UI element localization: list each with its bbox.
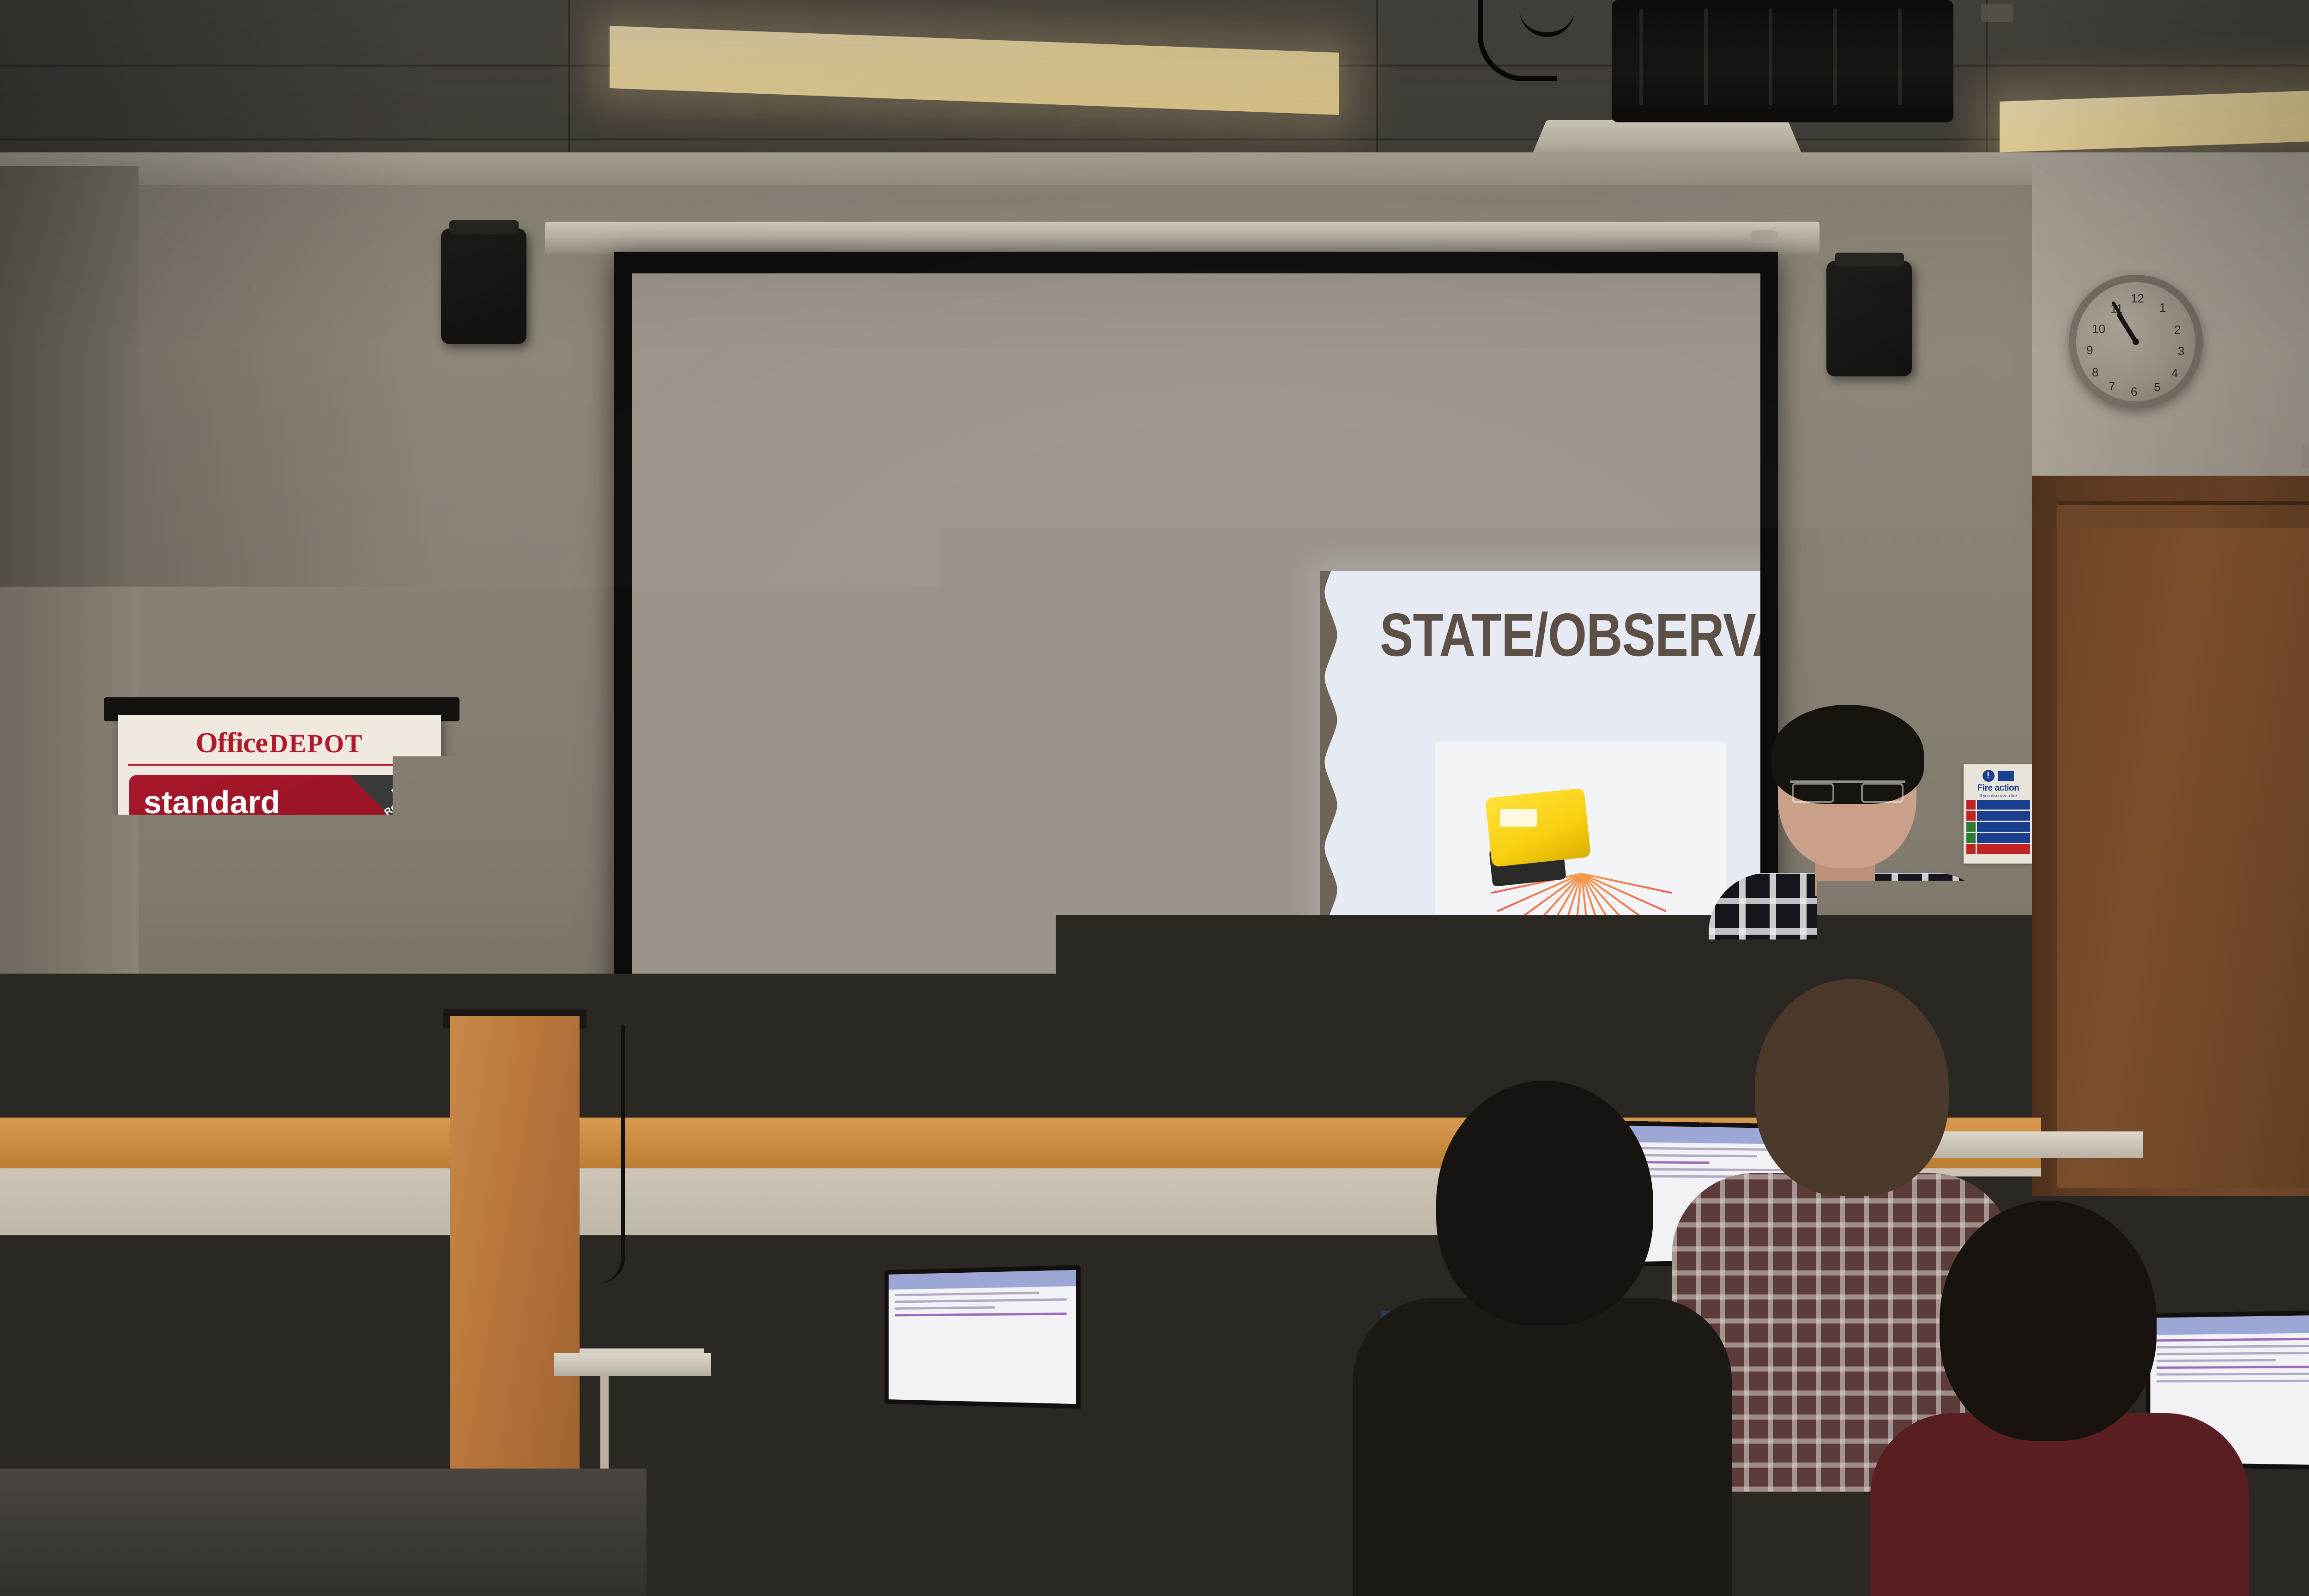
pad-red-panel: Bleed Resistant standard flipchart pad p…: [129, 775, 430, 1144]
spec-sheets: 40 SHEETS: [194, 1161, 260, 1193]
marker-cap: [298, 1206, 320, 1215]
flipchart-easel: Office DEPOT Bleed Resistant standard fl…: [99, 697, 464, 1593]
pad-term-desc: flipchart pad A1: [144, 888, 271, 903]
clock-number: 9: [2086, 343, 2093, 357]
clock-number: 1: [2159, 301, 2166, 315]
ceiling-projector: [1612, 0, 1953, 122]
office-depot-brand-primary: Office: [196, 727, 268, 759]
pad-dimensions-in: 31.9 in x 23 in: [144, 1109, 193, 1117]
spec-format: A1 FORMAT: [129, 1161, 194, 1193]
spec-reference: 2650828 REFERENCE: [326, 1161, 430, 1193]
clock-number: 8: [2092, 365, 2098, 380]
slide-wave-border-icon: [1320, 571, 1337, 1026]
audience-member-right: [1870, 1201, 2249, 1596]
pad-term-desc: bloc para tableros A1: [288, 888, 415, 903]
clock-number: 6: [2131, 385, 2137, 399]
lecture-room-photo: ← ↑ 12 1 2 3 4 5 6 7 8 9 10 11 Fire acti…: [0, 0, 2309, 1596]
pad-term: liscio: [288, 959, 415, 975]
pad-term-desc: flipchartblock A1: [144, 990, 271, 1005]
wall-speaker-left: [441, 229, 526, 344]
audience-member-front-left: [697, 1469, 1048, 1596]
projection-screen-surface: STATE/OBSERVATION: [632, 273, 1760, 1026]
wall-clock: 12 1 2 3 4 5 6 7 8 9 10 11: [2069, 275, 2203, 409]
room-door[interactable]: [2057, 501, 2309, 1188]
clock-number: 5: [2154, 380, 2160, 394]
floor: [0, 1469, 647, 1596]
pad-term: uni: [144, 915, 271, 931]
ceiling-grid-line: [0, 139, 2309, 140]
office-depot-brand-secondary: DEPOT: [269, 730, 363, 758]
direction-arrow-sign: ← ↑: [2302, 446, 2309, 468]
smoke-detector: [1981, 4, 2013, 22]
lectern-cable: [566, 1025, 625, 1284]
pad-spec-strip: A1 FORMAT 40 SHEETS 70 GSM 2650828 REFER…: [129, 1160, 430, 1193]
clock-number: 7: [2109, 379, 2115, 393]
brand-rule: [128, 764, 431, 766]
fire-notice-badge-icon: [1998, 771, 2014, 781]
presentation-slide: STATE/OBSERVATION: [1320, 571, 1760, 1026]
pad-term: einfarbig: [144, 973, 271, 990]
slide-title: STATE/OBSERVATION: [1380, 600, 1760, 670]
pad-term-desc: blocco A1 per lavagna portablocco: [288, 975, 415, 1005]
slide-image-lidar-scanner: [1435, 742, 1726, 968]
clock-number: 2: [2174, 323, 2181, 337]
clock-number: 4: [2171, 366, 2178, 381]
wall-speaker-right: [1826, 261, 1912, 376]
pad-term: liso: [288, 871, 415, 888]
clock-center-pin: [2133, 339, 2139, 345]
spec-gsm: 70 GSM: [260, 1161, 326, 1193]
screen-pull-knob[interactable]: [1750, 230, 1778, 243]
clock-number: 12: [2131, 291, 2144, 306]
pad-dimensions-mm: 810 mm x 585 mm: [144, 1101, 193, 1109]
presenter-glasses-icon: [1790, 780, 1905, 803]
pad-term-desc: bloc papier chevalet de conference A1: [144, 931, 271, 961]
clock-number: 3: [2178, 344, 2184, 358]
flipchart-pad: Office DEPOT Bleed Resistant standard fl…: [118, 715, 441, 1200]
clock-number: 10: [2092, 322, 2105, 336]
pad-term: effen: [288, 915, 415, 931]
pad-term: plain: [144, 871, 271, 888]
pad-term-desc: flipoverblok A1: [288, 931, 415, 946]
projection-screen-housing: [545, 222, 1819, 254]
